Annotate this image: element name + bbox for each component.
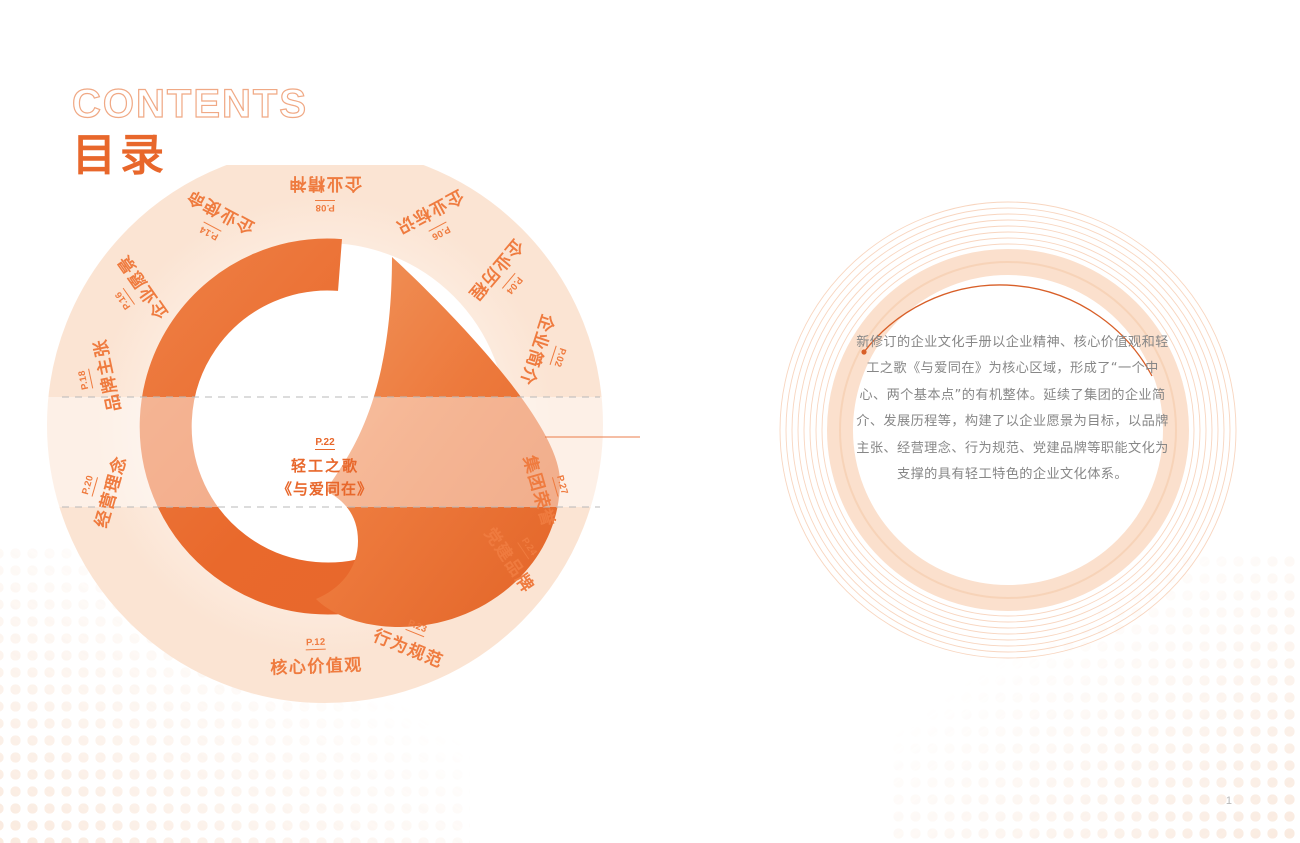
center-title-line1: 轻工之歌 <box>250 455 400 478</box>
center-title-line2: 《与爱同在》 <box>250 478 400 501</box>
page-number: 1 <box>1226 795 1232 807</box>
page-title: CONTENTS 目录 <box>72 84 308 178</box>
description-paragraph: 新修订的企业文化手册以企业精神、核心价值观和轻工之歌《与爱同在》为核心区域，形成… <box>855 330 1170 488</box>
wheel-item-page: P.12 <box>306 637 326 651</box>
wheel-item-p08[interactable]: P.08企业精神 <box>288 173 362 213</box>
center-page-number: P.22 <box>315 437 334 450</box>
contents-wheel-diagram: P.02企业简介P.04企业历程P.06企业标识P.08企业精神P.14企业使命… <box>40 165 640 705</box>
page-root: CONTENTS 目录 <box>0 0 1300 843</box>
wheel-item-page: P.08 <box>315 200 335 213</box>
wheel-item-page: P.18 <box>76 369 93 391</box>
center-label: P.22 轻工之歌 《与爱同在》 <box>250 430 400 500</box>
wheel-item-label: 企业精神 <box>288 173 362 198</box>
page-title-en: CONTENTS <box>72 84 308 124</box>
wheel-item-p12[interactable]: P.12核心价值观 <box>270 635 364 678</box>
description-circle: 新修订的企业文化手册以企业精神、核心价值观和轻工之歌《与爱同在》为核心区域，形成… <box>760 180 1260 680</box>
wheel-item-label: 核心价值观 <box>270 650 363 678</box>
